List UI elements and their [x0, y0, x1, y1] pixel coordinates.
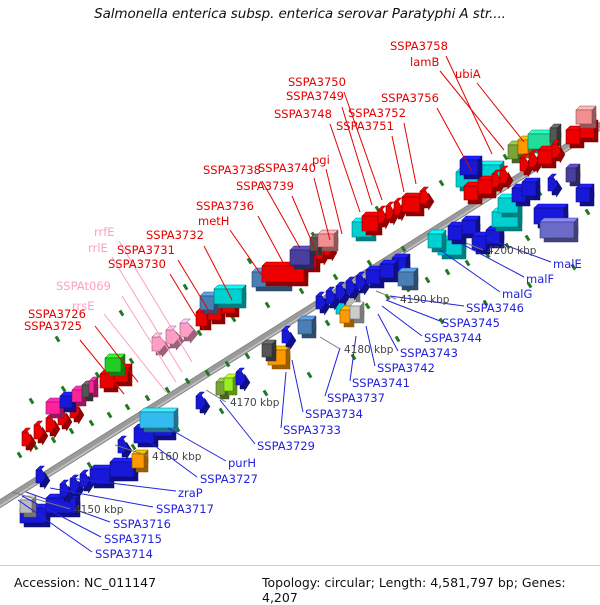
gene-glyph[interactable]: [118, 436, 132, 459]
gene-label[interactable]: rrlE: [88, 241, 108, 255]
accession-text: Accession: NC_011147: [14, 575, 156, 590]
gene-label[interactable]: pgi: [312, 153, 330, 167]
gene-label[interactable]: SSPA3750: [288, 75, 346, 89]
gene-label[interactable]: SSPA3758: [390, 39, 448, 53]
gene-label[interactable]: SSPA3752: [348, 106, 406, 120]
gene-label[interactable]: SSPA3733: [283, 423, 341, 437]
ruler-tick-label: 4160 kbp: [152, 451, 202, 463]
ruler-tick-label: 4200 kbp: [487, 245, 537, 257]
gene-label[interactable]: SSPA3744: [424, 331, 482, 345]
gene-label[interactable]: SSPA3742: [377, 361, 435, 375]
leader-line: [292, 360, 303, 412]
gene-label[interactable]: purH: [228, 456, 256, 470]
gene-glyph[interactable]: [236, 368, 250, 391]
gene-label[interactable]: SSPA3725: [24, 319, 82, 333]
gene-glyph[interactable]: [540, 218, 578, 242]
ruler-tick-label: 4190 kbp: [400, 294, 450, 306]
gene-glyph[interactable]: [282, 326, 296, 349]
gene-label[interactable]: SSPA3715: [104, 532, 162, 546]
gene-glyph[interactable]: [196, 392, 210, 415]
genome-map-canvas[interactable]: rrsESSPAt069rrlErrfESSPA3725SSPA3726SSPA…: [0, 0, 600, 600]
reverse-strand-genes[interactable]: [20, 164, 594, 527]
gene-glyph[interactable]: [262, 340, 276, 361]
topology-text: Topology: circular; Length: 4,581,797 bp…: [262, 575, 600, 605]
gene-glyph[interactable]: [398, 268, 418, 290]
gene-glyph[interactable]: [140, 408, 178, 432]
status-bar: Accession: NC_011147 Topology: circular;…: [0, 565, 600, 600]
gene-label[interactable]: SSPA3749: [286, 89, 344, 103]
gene-label[interactable]: ubiA: [455, 67, 481, 81]
ruler-tick-label: 4180 kbp: [344, 344, 394, 356]
gene-glyph[interactable]: [576, 106, 596, 128]
gene-label[interactable]: SSPA3730: [108, 257, 166, 271]
ruler-leader-line: [320, 337, 340, 349]
gene-label[interactable]: SSPA3736: [196, 199, 254, 213]
gene-glyph[interactable]: [298, 316, 316, 338]
gene-glyph[interactable]: [566, 164, 580, 186]
gene-label[interactable]: SSPA3739: [236, 179, 294, 193]
gene-label[interactable]: rrfE: [94, 225, 115, 239]
ruler-tick-label: 4150 kbp: [74, 504, 124, 516]
gene-label[interactable]: SSPA3746: [466, 301, 524, 315]
gene-label[interactable]: SSPA3714: [95, 547, 153, 561]
leader-line: [392, 136, 404, 192]
ruler-leader-line: [376, 291, 396, 299]
gene-label[interactable]: SSPA3745: [442, 316, 500, 330]
gene-label[interactable]: SSPA3729: [257, 439, 315, 453]
ruler-tick-label: 4170 kbp: [230, 397, 280, 409]
gene-label[interactable]: SSPA3743: [400, 346, 458, 360]
gene-glyph[interactable]: [576, 184, 594, 206]
gene-glyph[interactable]: [428, 230, 446, 252]
gene-label[interactable]: SSPA3727: [200, 472, 258, 486]
leader-line: [437, 108, 472, 172]
gene-label[interactable]: malG: [502, 287, 532, 301]
leader-line: [440, 71, 504, 150]
genome-viewer: Salmonella enterica subsp. enterica sero…: [0, 0, 600, 600]
leader-line: [326, 169, 342, 234]
leader-line: [281, 372, 286, 428]
gene-label[interactable]: SSPA3731: [117, 243, 175, 257]
gene-glyph[interactable]: [548, 174, 562, 197]
gene-label[interactable]: SSPA3732: [146, 228, 204, 242]
gene-label[interactable]: lamB: [410, 55, 439, 69]
leader-line: [178, 260, 212, 316]
leader-line: [258, 216, 286, 268]
gene-label[interactable]: SSPA3756: [381, 91, 439, 105]
gene-label[interactable]: SSPA3717: [156, 502, 214, 516]
gene-label[interactable]: malF: [526, 272, 554, 286]
leader-line: [230, 230, 262, 276]
gene-label[interactable]: SSPA3748: [274, 107, 332, 121]
leader-line: [477, 83, 524, 142]
gene-label[interactable]: SSPAt069: [56, 279, 111, 293]
gene-label[interactable]: metH: [198, 214, 229, 228]
leader-line: [325, 348, 340, 396]
gene-label[interactable]: SSPA3716: [113, 517, 171, 531]
leader-line: [404, 123, 416, 184]
gene-label[interactable]: SSPA3726: [28, 307, 86, 321]
gene-label[interactable]: SSPA3738: [203, 163, 261, 177]
gene-label[interactable]: SSPA3751: [336, 119, 394, 133]
gene-label[interactable]: zraP: [178, 486, 203, 500]
gene-label[interactable]: SSPA3734: [305, 407, 363, 421]
gene-label[interactable]: SSPA3737: [327, 391, 385, 405]
gene-label[interactable]: malE: [553, 257, 582, 271]
gene-label[interactable]: SSPA3741: [352, 376, 410, 390]
gene-label[interactable]: SSPA3740: [258, 161, 316, 175]
leader-line: [330, 124, 360, 212]
